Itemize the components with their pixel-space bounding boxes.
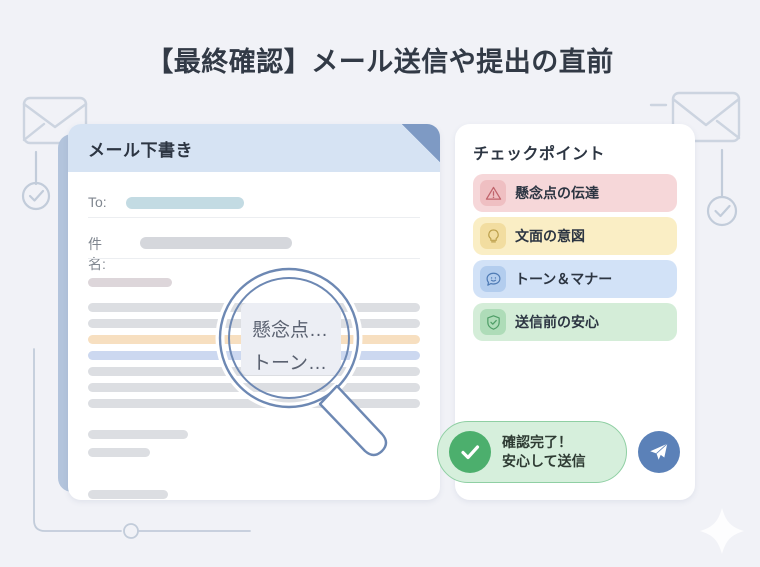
mail-field-divider-2 bbox=[88, 258, 420, 259]
mail-body-line bbox=[88, 490, 168, 499]
mail-field-to-value bbox=[126, 197, 244, 209]
magnifier-icon: 懸念点… トーン… bbox=[196, 266, 406, 466]
paper-plane-icon bbox=[648, 441, 670, 463]
checkpoint-item-4[interactable]: 送信前の安心 bbox=[473, 303, 677, 341]
mail-field-divider-1 bbox=[88, 217, 420, 218]
mail-field-to-label: To: bbox=[88, 194, 107, 210]
send-button[interactable] bbox=[638, 431, 680, 473]
confirmation-line-1: 確認完了！ bbox=[502, 433, 586, 452]
checkpoint-item-label: トーン＆マナー bbox=[515, 269, 612, 289]
shield-check-icon bbox=[480, 309, 506, 335]
check-circle-outline-icon-left bbox=[23, 152, 49, 209]
magnifier-line-1: 懸念点… bbox=[252, 318, 328, 341]
checkpoint-item-2[interactable]: 文面の意図 bbox=[473, 217, 677, 255]
confirmation-line-2: 安心して送信 bbox=[502, 452, 586, 471]
mail-card-title: メール下書き bbox=[88, 136, 193, 161]
confirmation-badge-text: 確認完了！ 安心して送信 bbox=[502, 433, 586, 471]
mail-body-line bbox=[88, 278, 172, 287]
sparkle-icon bbox=[700, 508, 744, 554]
checkpoint-item-label: 送信前の安心 bbox=[515, 312, 599, 332]
magnifier-line-2: トーン… bbox=[252, 353, 327, 374]
checkpoint-item-3[interactable]: トーン＆マナー bbox=[473, 260, 677, 298]
checkpoint-panel-title: チェックポイント bbox=[473, 140, 605, 164]
check-circle-icon bbox=[449, 431, 491, 473]
checkpoint-item-label: 文面の意図 bbox=[515, 226, 585, 246]
mail-body-line bbox=[88, 448, 150, 457]
mail-field-subject-value bbox=[140, 237, 292, 249]
chat-smile-icon bbox=[480, 266, 506, 292]
folded-corner-icon bbox=[402, 124, 440, 162]
confirmation-badge[interactable]: 確認完了！ 安心して送信 bbox=[437, 421, 627, 483]
checkpoint-item-label: 懸念点の伝達 bbox=[515, 183, 599, 203]
lightbulb-icon bbox=[480, 223, 506, 249]
mail-field-subject-label: 件名: bbox=[88, 234, 106, 274]
infographic-canvas: 【最終確認】メール送信や提出の直前 メール下書き To: 件名: 懸念点… トー… bbox=[0, 0, 760, 567]
warning-triangle-icon bbox=[480, 180, 506, 206]
page-title: 【最終確認】メール送信や提出の直前 bbox=[0, 40, 760, 79]
checkpoint-item-1[interactable]: 懸念点の伝達 bbox=[473, 174, 677, 212]
check-circle-outline-icon-right bbox=[708, 150, 736, 225]
mail-body-line bbox=[88, 430, 188, 439]
